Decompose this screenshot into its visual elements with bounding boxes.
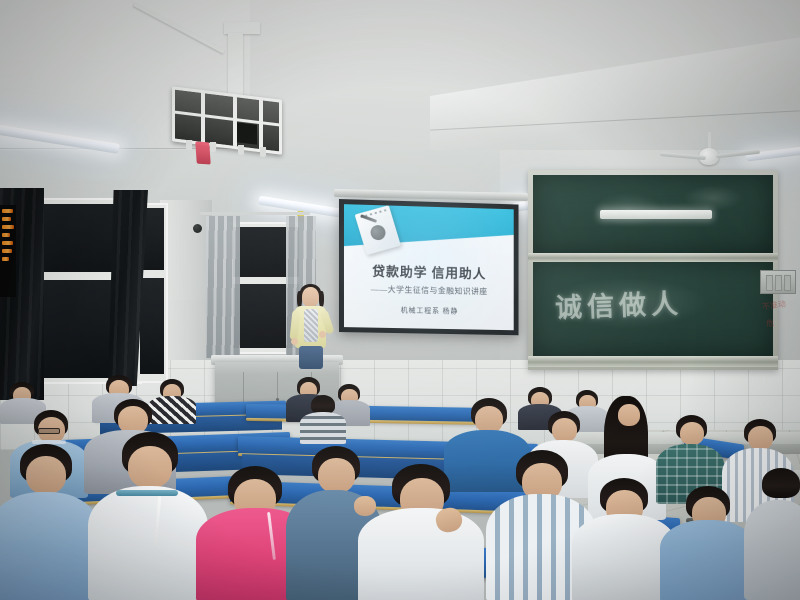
seal-dot-icon [369,223,388,241]
blackboard-panel-lower: 诚信做人 [533,262,773,357]
presenter-hand-left [291,338,298,345]
presentation-slide: 贷款助学 信用助人 ——大学生征信与金融知识讲座 机械工程系 杨静 [344,204,514,330]
student-blue-polo-far [660,506,756,600]
led-marquee-display [0,205,16,297]
projector-mount-foot [260,147,266,157]
presenter-top [304,309,318,342]
electrical-switch-box[interactable] [760,270,796,294]
presenter-trousers [299,346,323,369]
projector-mount-foot [210,142,216,152]
pen-icon [360,214,377,223]
projector-mount-foot [186,140,192,150]
classroom-photo: 诚信做人 不准动 危 贷款助学 信用助人 ——大学生征信与金融知识讲座 机械工程… [0,0,800,600]
projector-mount-foot [238,145,244,155]
student-lightblue-large [0,470,100,600]
slide-byline: 机械工程系 杨静 [344,304,514,317]
student-white-tee-front [358,492,484,600]
curtain-rod-sheer [200,212,310,215]
projector-drop-pole [228,33,243,97]
slide-title: 贷款助学 信用助人 [344,260,514,283]
red-cloth-tag [195,141,211,164]
slide-subtitle: ——大学生征信与金融知识讲座 [344,283,514,298]
student-edge-right [744,486,800,600]
ceiling-seam [0,148,260,149]
blackboard-lamp [600,210,712,219]
student-plaid-cap [300,404,346,444]
blackboard-chalk-tray [528,356,778,367]
presenter-head [302,287,319,307]
blackboard-divider-rail [528,253,778,262]
student-white-polo-stripe [88,462,208,600]
presenter [283,287,343,369]
presenter-hair-left [297,291,302,307]
presenter-hand-right [319,331,326,338]
presenter-hair-right [319,291,324,307]
wall-red-marking: 危 [765,317,774,329]
window-glass-narrow-lower [140,278,164,374]
projection-screen: 贷款助学 信用助人 ——大学生征信与金融知识讲座 机械工程系 杨静 [339,199,519,335]
curtain-sheer-left [206,216,240,358]
wall-speaker [193,224,202,233]
